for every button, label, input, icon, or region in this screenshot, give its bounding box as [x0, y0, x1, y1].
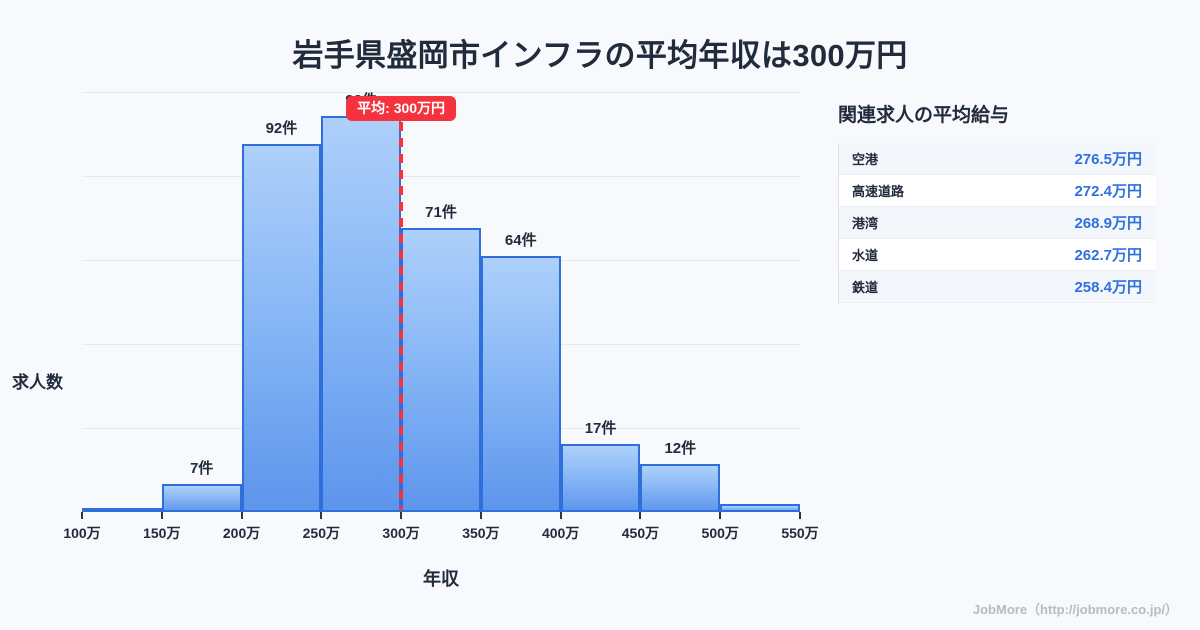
bar-value-label: 92件	[242, 117, 322, 138]
bar-series: 7件92件99件71件64件17件12件	[82, 92, 800, 512]
salary-row-value: 272.4万円	[1074, 180, 1142, 201]
salary-row-value: 268.9万円	[1074, 212, 1142, 233]
x-tick-label: 250万	[303, 523, 340, 543]
x-axis-baseline	[82, 510, 800, 512]
tick-mark	[161, 512, 163, 519]
bar[interactable]	[640, 464, 720, 512]
table-row[interactable]: 港湾268.9万円	[839, 207, 1156, 239]
tick-mark	[241, 512, 243, 519]
y-axis-title: 求人数	[12, 368, 63, 393]
table-row[interactable]: 高速道路272.4万円	[839, 175, 1156, 207]
x-axis-title: 年収	[82, 565, 800, 591]
x-tick-label: 450万	[622, 523, 659, 543]
tick-mark	[81, 512, 83, 519]
histogram-chart: 求人数 7件92件99件71件64件17件12件 100万150万200万250…	[0, 88, 830, 558]
related-salary-title: 関連求人の平均給与	[838, 100, 1168, 127]
tick-mark	[400, 512, 402, 519]
tick-mark	[799, 512, 801, 519]
table-row[interactable]: 鉄道258.4万円	[839, 271, 1156, 303]
tick-mark	[320, 512, 322, 519]
salary-row-name: 鉄道	[852, 277, 878, 296]
table-row[interactable]: 空港276.5万円	[839, 143, 1156, 175]
bar-value-label: 64件	[481, 229, 561, 250]
x-tick-label: 100万	[63, 523, 100, 543]
mean-line	[399, 106, 403, 512]
bar[interactable]	[162, 484, 242, 512]
bar[interactable]	[401, 228, 481, 512]
tick-mark	[560, 512, 562, 519]
salary-row-name: 港湾	[852, 213, 878, 232]
table-row[interactable]: 水道262.7万円	[839, 239, 1156, 271]
bar[interactable]	[481, 256, 561, 512]
bar[interactable]	[561, 444, 641, 512]
bar[interactable]	[242, 144, 322, 512]
x-tick-label: 550万	[781, 523, 818, 543]
x-tick-label: 400万	[542, 523, 579, 543]
x-tick-label: 500万	[702, 523, 739, 543]
salary-row-value: 262.7万円	[1074, 244, 1142, 265]
x-tick-label: 350万	[462, 523, 499, 543]
bar-value-label: 17件	[561, 417, 641, 438]
footer-credit: JobMore（http://jobmore.co.jp/）	[973, 599, 1178, 618]
bar-value-label: 71件	[401, 201, 481, 222]
salary-row-name: 高速道路	[852, 181, 904, 200]
salary-row-name: 水道	[852, 245, 878, 264]
plot-area: 7件92件99件71件64件17件12件 100万150万200万250万300…	[82, 92, 800, 512]
tick-mark	[480, 512, 482, 519]
bar-value-label: 12件	[640, 437, 720, 458]
bar-value-label: 7件	[162, 457, 242, 478]
bar[interactable]	[321, 116, 401, 512]
related-salary-table: 空港276.5万円高速道路272.4万円港湾268.9万円水道262.7万円鉄道…	[838, 143, 1156, 303]
x-tick-label: 200万	[223, 523, 260, 543]
mean-badge: 平均: 300万円	[346, 96, 456, 121]
page-title: 岩手県盛岡市インフラの平均年収は300万円	[0, 30, 1200, 75]
salary-row-value: 276.5万円	[1074, 148, 1142, 169]
related-salary-panel: 関連求人の平均給与 空港276.5万円高速道路272.4万円港湾268.9万円水…	[838, 100, 1168, 303]
tick-mark	[719, 512, 721, 519]
salary-row-name: 空港	[852, 149, 878, 168]
salary-row-value: 258.4万円	[1074, 276, 1142, 297]
tick-mark	[639, 512, 641, 519]
x-tick-label: 300万	[382, 523, 419, 543]
x-tick-label: 150万	[143, 523, 180, 543]
